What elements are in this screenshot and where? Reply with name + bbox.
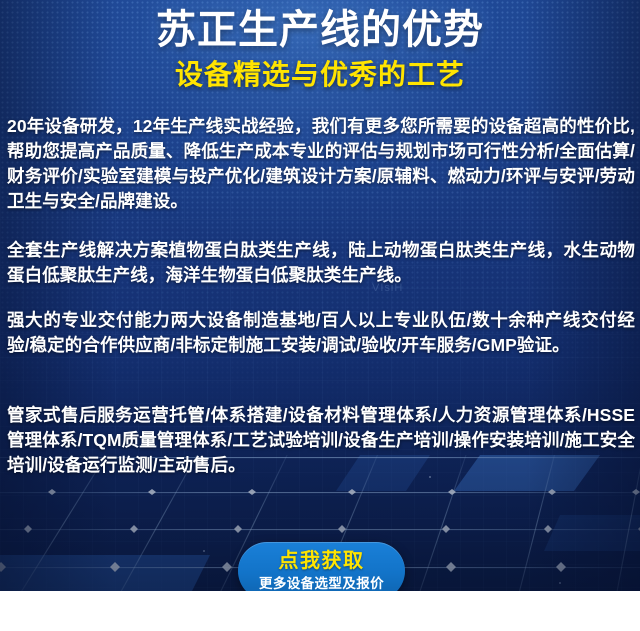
page-title: 苏正生产线的优势 (0, 6, 640, 54)
body-paragraph-2: 全套生产线解决方案植物蛋白肽类生产线，陆上动物蛋白肽类生产线，水生动物蛋白低聚肽… (7, 238, 635, 288)
body-paragraph-4: 管家式售后服务运营托管/体系搭建/设备材料管理体系/人力资源管理体系/HSSE管… (7, 403, 635, 478)
body-paragraph-3: 强大的专业交付能力两大设备制造基地/百人以上专业队伍/数十余种产线交付经验/稳定… (7, 308, 635, 358)
cta-button-title: 点我获取 (279, 550, 365, 573)
poster-content: 苏正生产线的优势 设备精选与优秀的工艺 20年设备研发，12年生产线实战经验，我… (0, 0, 640, 591)
page-subtitle: 设备精选与优秀的工艺 (0, 59, 640, 91)
promo-poster: 苏正生产线的优势 设备精选与优秀的工艺 20年设备研发，12年生产线实战经验，我… (0, 0, 640, 631)
cta-button-subtitle: 更多设备选型及报价 (259, 575, 384, 593)
bottom-white-strip (0, 591, 640, 631)
body-paragraph-1: 20年设备研发，12年生产线实战经验，我们有更多您所需要的设备超高的性价比,帮助… (7, 114, 635, 214)
